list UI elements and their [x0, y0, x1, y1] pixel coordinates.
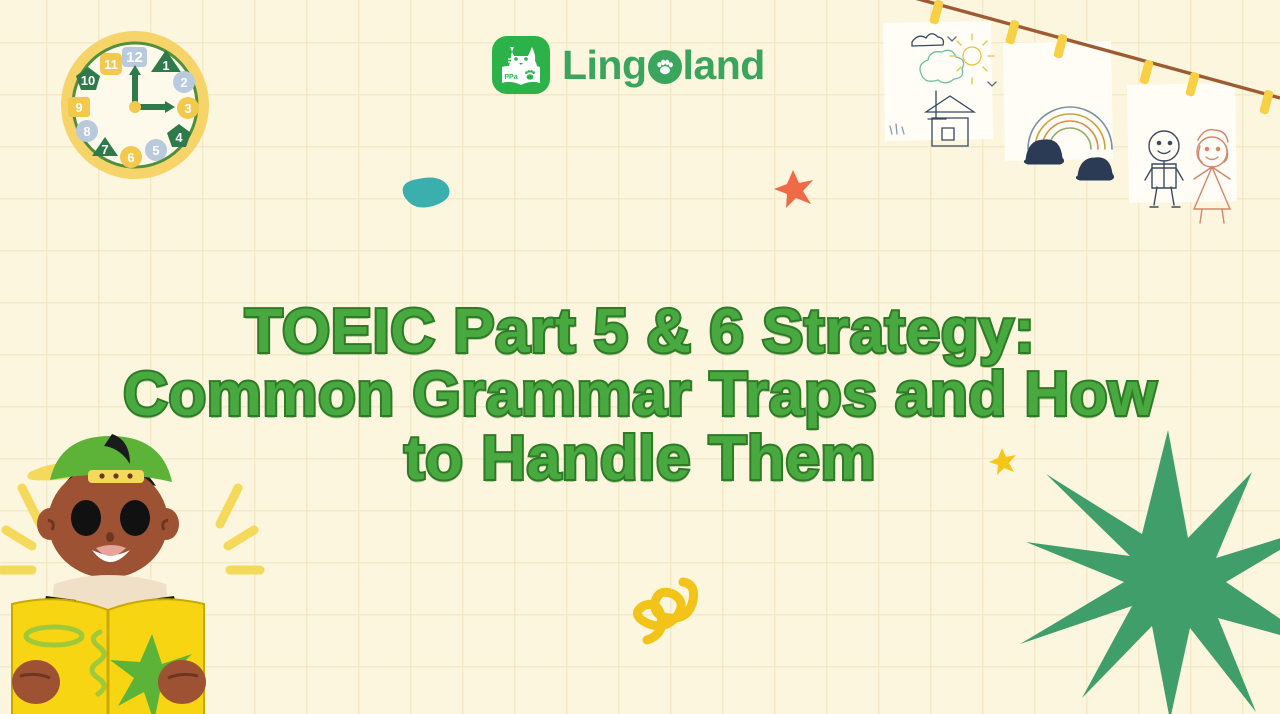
svg-text:9: 9 [75, 100, 82, 115]
svg-text:11: 11 [104, 57, 118, 72]
cat-reading-book-icon: PPa [492, 36, 550, 94]
svg-text:1: 1 [162, 58, 169, 73]
svg-text:7: 7 [101, 142, 108, 157]
clothesline-drawings [876, 0, 1280, 269]
wall-clock: 12 1 2 3 4 5 6 7 8 9 [55, 25, 215, 190]
svg-text:PPa: PPa [504, 74, 517, 81]
svg-text:12: 12 [126, 49, 143, 66]
yellow-squiggle-icon [625, 520, 745, 655]
brand-name-before-paw: Ling [562, 42, 647, 89]
brand-wordmark: Ling land [562, 42, 765, 89]
title-card: 12 1 2 3 4 5 6 7 8 9 [0, 0, 1280, 714]
orange-star-icon [772, 168, 814, 215]
brand-name-after-paw: land [683, 42, 765, 89]
teal-blob-icon [396, 176, 452, 215]
svg-text:4: 4 [175, 130, 183, 145]
page-title: TOEIC Part 5 & 6 Strategy: Common Gramma… [0, 300, 1280, 492]
paw-print-icon [648, 50, 682, 84]
svg-text:3: 3 [184, 101, 191, 116]
brand-logo[interactable]: PPa Ling [492, 36, 765, 94]
svg-text:10: 10 [81, 73, 95, 88]
svg-text:6: 6 [127, 150, 134, 165]
svg-text:8: 8 [83, 124, 90, 139]
svg-text:5: 5 [152, 143, 159, 158]
svg-text:2: 2 [180, 75, 187, 90]
